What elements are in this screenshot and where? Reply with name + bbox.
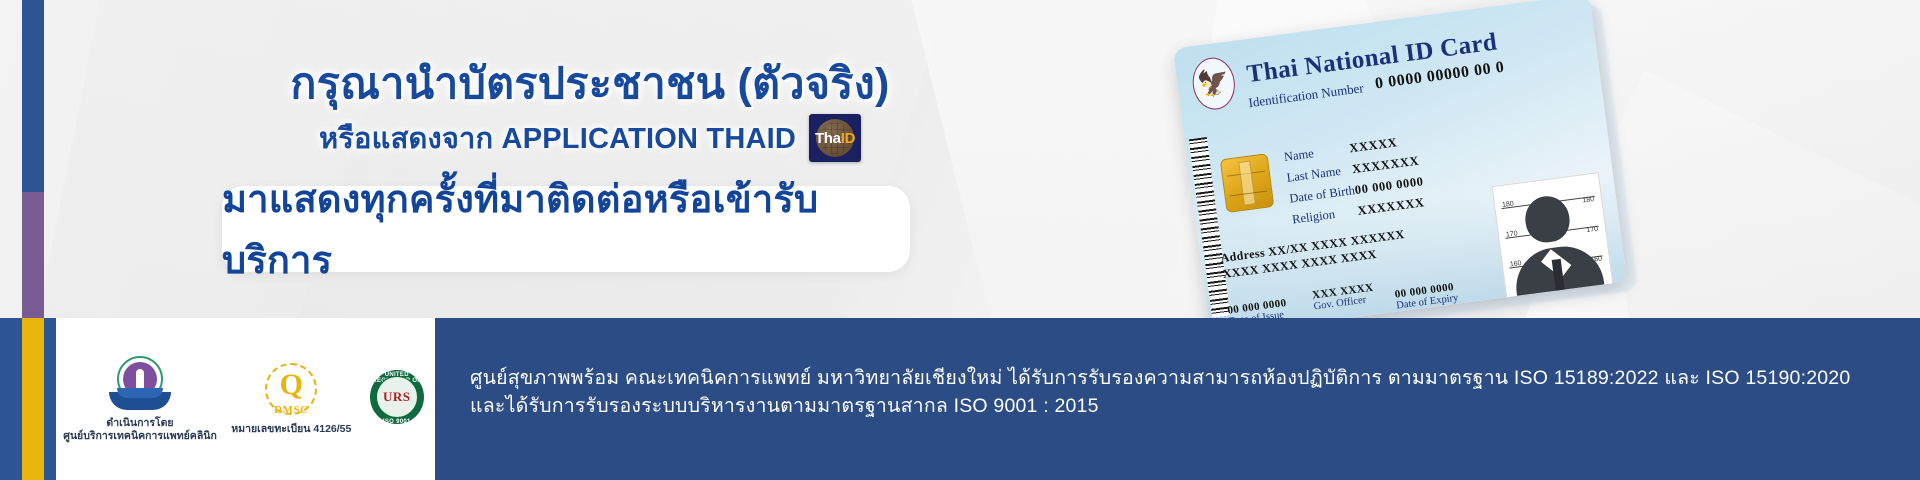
logo-caption-line1: ดำเนินการโดย	[106, 417, 173, 429]
accreditation-logos: ดำเนินการโดย ศูนย์บริการเทคนิคการแพทย์คล…	[56, 318, 435, 480]
urs-iso9001-seal-icon: UNITED REGISTRAR OF SYSTEMS URS ISO 9001	[366, 370, 428, 428]
photo-tick-right-170: 170	[1586, 226, 1599, 234]
footer-text-line-1: ศูนย์สุขภาพพร้อม คณะเทคนิคการแพทย์ มหาวิ…	[470, 364, 1890, 392]
garuda-emblem-icon: 🦅	[1190, 55, 1238, 112]
photo-tick-left-170: 170	[1506, 230, 1519, 238]
logo-caption: หมายเลขทะเบียน 4126/55	[231, 423, 351, 436]
smart-chip-icon	[1220, 153, 1275, 213]
banner-stage: กรุณานำบัตรประชาชน (ตัวจริง) หรือแสดงจาก…	[0, 0, 1920, 480]
logo-item-urs: UNITED REGISTRAR OF SYSTEMS URS ISO 9001	[366, 370, 428, 428]
logo-caption-line1: หมายเลขทะเบียน 4126/55	[231, 423, 351, 435]
logo-item-amtm: ดำเนินการโดย ศูนย์บริการเทคนิคการแพทย์คล…	[63, 356, 217, 443]
footer-bar: ดำเนินการโดย ศูนย์บริการเทคนิคการแพทย์คล…	[0, 318, 1920, 480]
dmsc-q-seal-icon: Q DMSC	[260, 362, 322, 420]
photo-tick-right-180: 180	[1582, 196, 1595, 204]
card-fields: Name XXXXX Last Name XXXXXXX Date of Bir…	[1283, 130, 1428, 231]
thaid-app-icon[interactable]: ThaID	[809, 114, 861, 162]
urs-wordmark: URS	[376, 389, 418, 405]
footer-left-navy-stripe-2	[44, 318, 56, 480]
urs-arc-bottom: ISO 9001	[370, 419, 424, 425]
headline-sub-row: หรือแสดงจาก APPLICATION THAID ThaID	[0, 114, 1180, 162]
thaid-text-a: Tha	[815, 130, 841, 147]
dmsc-sub-text: DMSC	[260, 404, 322, 416]
headline-main: กรุณานำบัตรประชาชน (ตัวจริง)	[0, 58, 1180, 110]
thaid-wordmark: ThaID	[815, 131, 855, 146]
card-face: 🦅 Thai National ID Card Identification N…	[1173, 0, 1627, 336]
photo-tick-left-160: 160	[1510, 260, 1523, 268]
portrait-head-silhouette	[1523, 194, 1573, 245]
thaid-text-b: ID	[841, 130, 855, 147]
logo-caption-line2: ศูนย์บริการเทคนิคการแพทย์คลินิก	[63, 430, 217, 442]
card-portrait-photo: 180 180 170 170 160 160	[1492, 172, 1614, 301]
footer-left-navy-stripe	[0, 318, 22, 480]
left-accent-bar-purple	[22, 192, 44, 318]
headline-block: กรุณานำบัตรประชาชน (ตัวจริง) หรือแสดงจาก…	[0, 58, 1180, 162]
q-letter: Q	[260, 370, 322, 400]
callout-pill: มาแสดงทุกครั้งที่มาติดต่อหรือเข้ารับบริก…	[222, 186, 910, 272]
footer-accreditation-text: ศูนย์สุขภาพพร้อม คณะเทคนิคการแพทย์ มหาวิ…	[470, 364, 1890, 420]
headline-sub: หรือแสดงจาก APPLICATION THAID	[319, 115, 796, 161]
logo-caption: ดำเนินการโดย ศูนย์บริการเทคนิคการแพทย์คล…	[63, 417, 217, 443]
amtm-seal-icon	[109, 356, 171, 414]
thai-national-id-card: 🦅 Thai National ID Card Identification N…	[1173, 0, 1627, 336]
footer-text-line-2: และได้รับการรับรองระบบบริหารงานตามมาตรฐา…	[470, 392, 1890, 420]
callout-pill-text: มาแสดงทุกครั้งที่มาติดต่อหรือเข้ารับบริก…	[222, 168, 910, 290]
logo-item-dmsc: Q DMSC หมายเลขทะเบียน 4126/55	[231, 362, 351, 436]
photo-tick-left-180: 180	[1502, 201, 1515, 209]
footer-left-gold-stripe	[22, 318, 44, 480]
